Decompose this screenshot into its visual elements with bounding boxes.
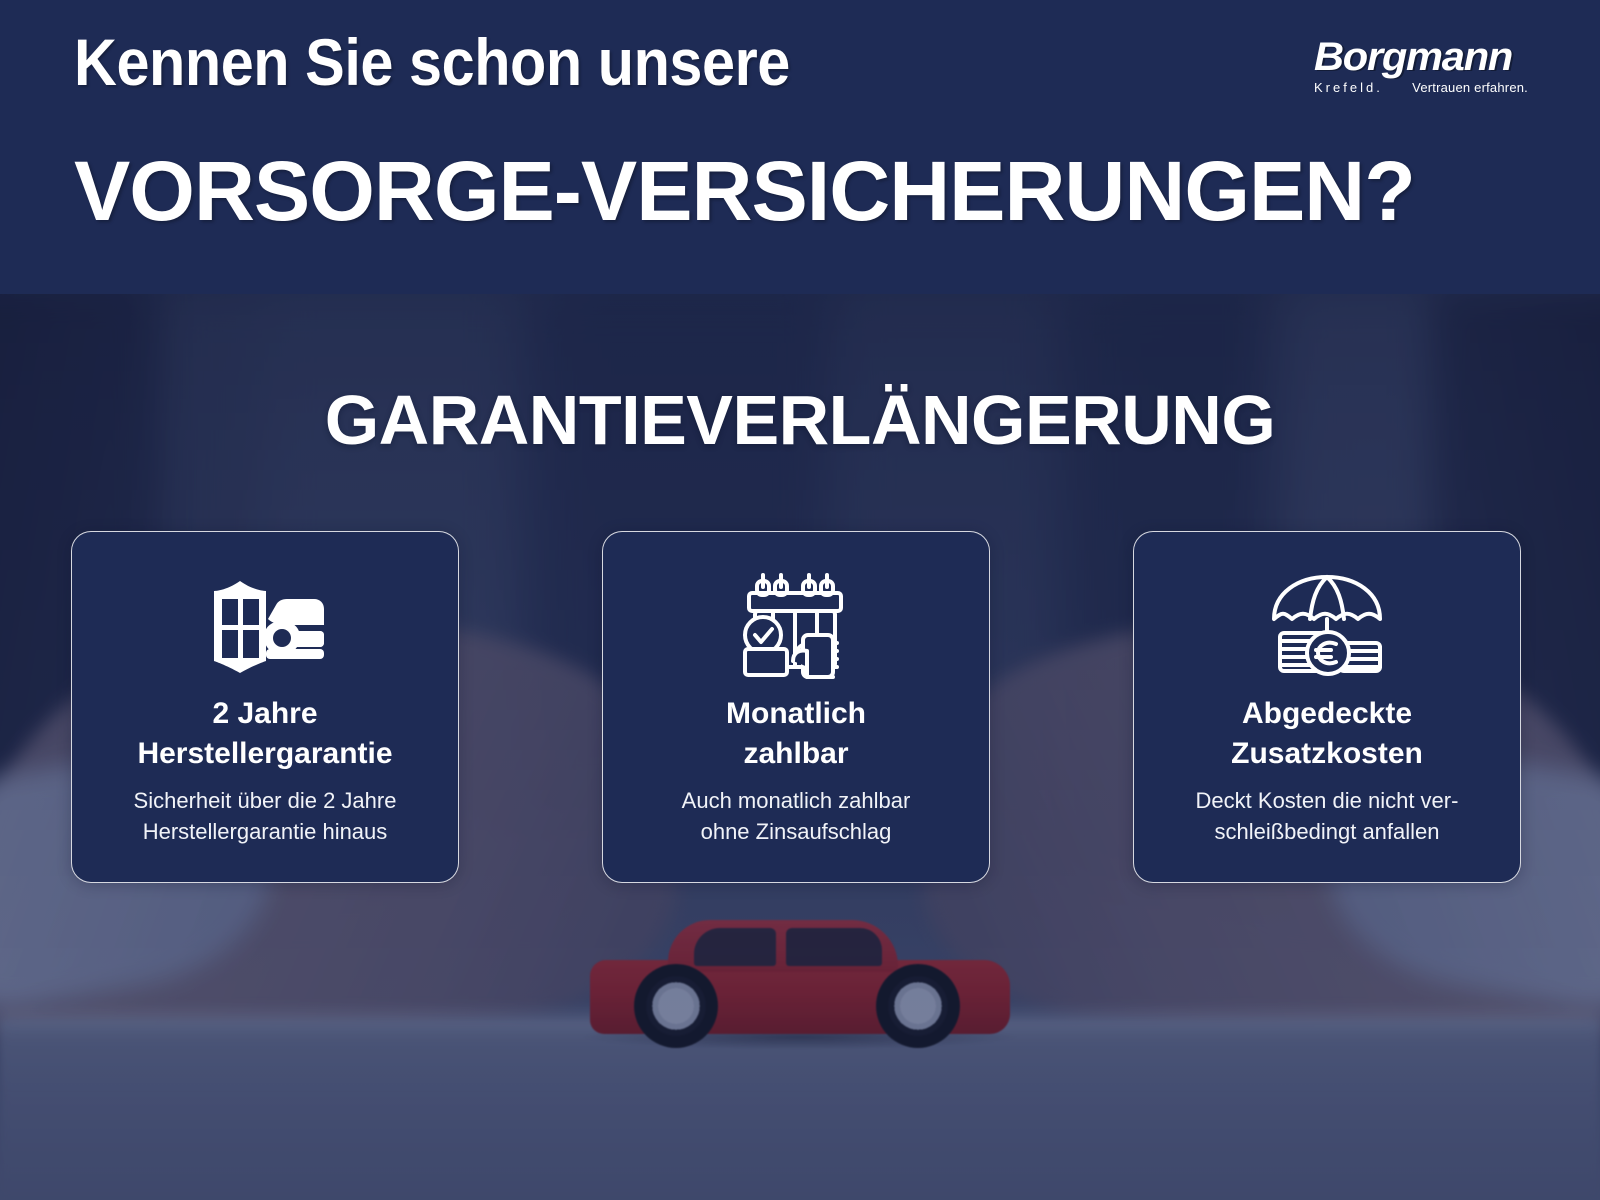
feature-card-title-line2: zahlbar	[726, 734, 866, 774]
feature-card-description: Sicherheit über die 2 Jahre Herstellerga…	[134, 785, 397, 847]
section-title: GARANTIEVERLÄNGERUNG	[0, 380, 1600, 460]
feature-card-title-line1: 2 Jahre	[137, 694, 392, 734]
feature-card-monatlich-zahlbar[interactable]: Monatlich zahlbar Auch monatlich zahlbar…	[602, 531, 990, 883]
headline-text: VORSORGE-VERSICHERUNGEN?	[74, 143, 1415, 240]
feature-card-title-line2: Zusatzkosten	[1231, 734, 1423, 774]
borgmann-logo[interactable]: Borgmann Krefeld. Vertrauen erfahren.	[1314, 36, 1542, 108]
umbrella-euro-coins-icon	[1266, 566, 1388, 688]
feature-card-title-line1: Abgedeckte	[1231, 694, 1423, 734]
feature-card-title: Monatlich zahlbar	[726, 694, 866, 774]
promo-banner: Kennen Sie schon unsere VORSORGE-VERSICH…	[0, 0, 1600, 1200]
feature-card-list: 2 Jahre Herstellergarantie Sicherheit üb…	[71, 531, 1521, 883]
feature-card-desc-line1: Sicherheit über die 2 Jahre	[134, 785, 397, 816]
logo-tagline-city: Krefeld.	[1314, 80, 1383, 95]
feature-card-title: Abgedeckte Zusatzkosten	[1231, 694, 1423, 774]
feature-card-desc-line2: ohne Zinsaufschlag	[682, 816, 911, 847]
feature-card-desc-line2: schleißbedingt anfallen	[1196, 816, 1459, 847]
kicker-text: Kennen Sie schon unsere	[74, 24, 790, 100]
feature-card-description: Auch monatlich zahlbar ohne Zinsaufschla…	[682, 785, 911, 847]
header-band: Kennen Sie schon unsere VORSORGE-VERSICH…	[0, 0, 1600, 294]
feature-card-description: Deckt Kosten die nicht ver- schleißbedin…	[1196, 785, 1459, 847]
logo-wordmark: Borgmann	[1314, 36, 1551, 78]
feature-card-desc-line2: Herstellergarantie hinaus	[134, 816, 397, 847]
calendar-check-money-icon	[737, 566, 855, 688]
feature-card-title: 2 Jahre Herstellergarantie	[137, 694, 392, 774]
logo-tagline-slogan: Vertrauen erfahren.	[1412, 80, 1528, 95]
shield-car-icon	[202, 566, 328, 688]
feature-card-herstellergarantie[interactable]: 2 Jahre Herstellergarantie Sicherheit üb…	[71, 531, 459, 883]
logo-tagline: Krefeld. Vertrauen erfahren.	[1314, 80, 1528, 95]
feature-card-title-line2: Herstellergarantie	[137, 734, 392, 774]
feature-card-title-line1: Monatlich	[726, 694, 866, 734]
feature-card-desc-line1: Deckt Kosten die nicht ver-	[1196, 785, 1459, 816]
feature-card-zusatzkosten[interactable]: Abgedeckte Zusatzkosten Deckt Kosten die…	[1133, 531, 1521, 883]
feature-card-desc-line1: Auch monatlich zahlbar	[682, 785, 911, 816]
